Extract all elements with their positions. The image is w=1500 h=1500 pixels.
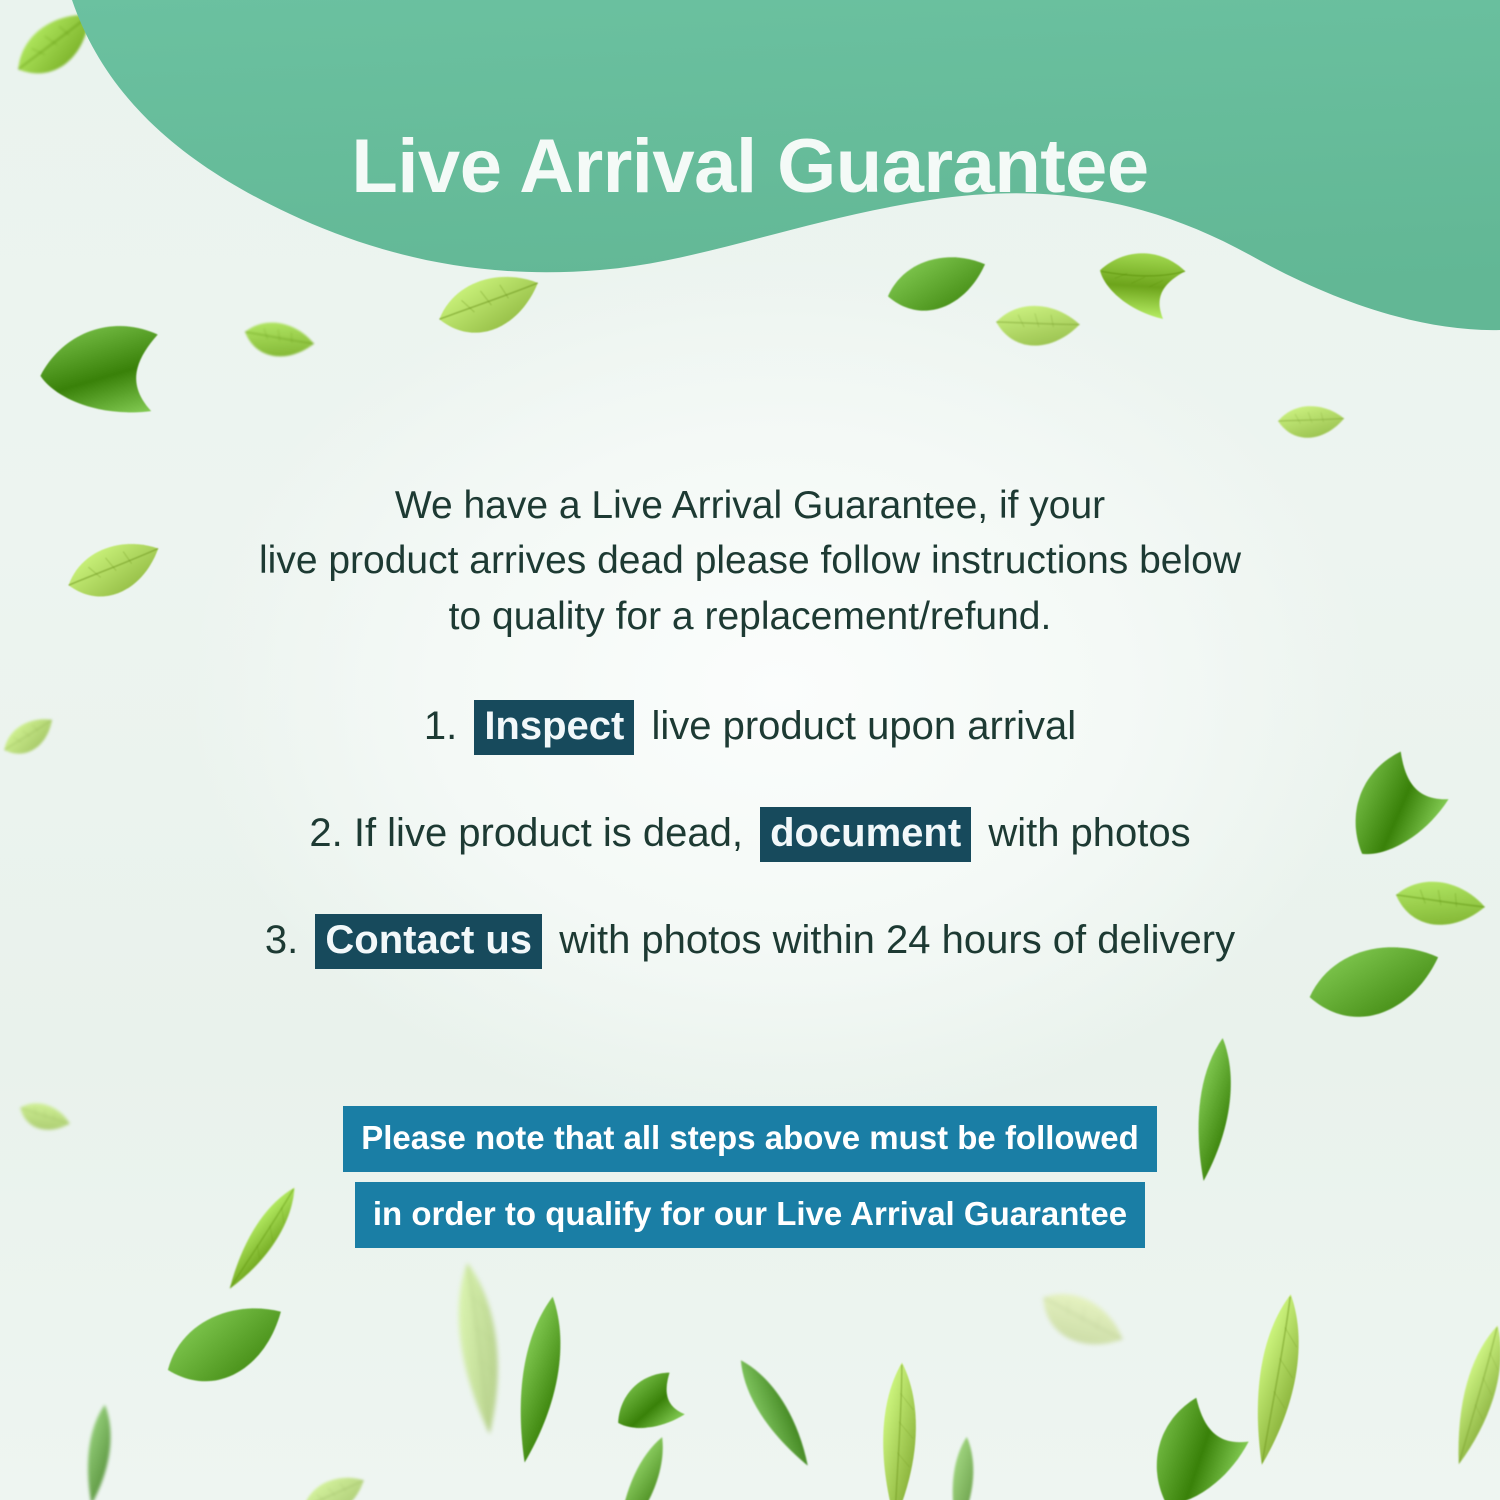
step-text-3: with photos within 24 hours of delivery [559, 918, 1235, 962]
intro-line-1: We have a Live Arrival Guarantee, if you… [120, 478, 1380, 533]
step-text-2-after: with photos [988, 811, 1190, 855]
page-title: Live Arrival Guarantee [0, 129, 1500, 205]
step-text-1: live product upon arrival [651, 704, 1076, 748]
intro-line-3: to quality for a replacement/refund. [120, 589, 1380, 644]
step-item-3: 3. Contact us with photos within 24 hour… [0, 914, 1500, 969]
note-line-1: Please note that all steps above must be… [343, 1106, 1157, 1172]
step-number-1: 1. [424, 704, 457, 748]
step-item-1: 1. Inspect live product upon arrival [0, 700, 1500, 755]
step-item-2: 2. If live product is dead, document wit… [0, 807, 1500, 862]
intro-line-2: live product arrives dead please follow … [120, 533, 1380, 588]
instruction-steps-list: 1. Inspect live product upon arrival 2. … [0, 700, 1500, 1021]
step-number-3: 3. [265, 918, 298, 962]
note-divider [0, 1172, 1500, 1182]
step-highlight-1: Inspect [474, 700, 634, 755]
intro-paragraph: We have a Live Arrival Guarantee, if you… [0, 478, 1500, 644]
step-highlight-2: document [760, 807, 971, 862]
step-text-2-before: If live product is dead, [354, 811, 743, 855]
step-number-2: 2. [309, 811, 342, 855]
step-highlight-3: Contact us [315, 914, 542, 969]
disclaimer-note: Please note that all steps above must be… [0, 1106, 1500, 1248]
note-line-2: in order to qualify for our Live Arrival… [355, 1182, 1145, 1248]
live-arrival-guarantee-poster: Live Arrival Guarantee We have a Live Ar… [0, 0, 1500, 1500]
